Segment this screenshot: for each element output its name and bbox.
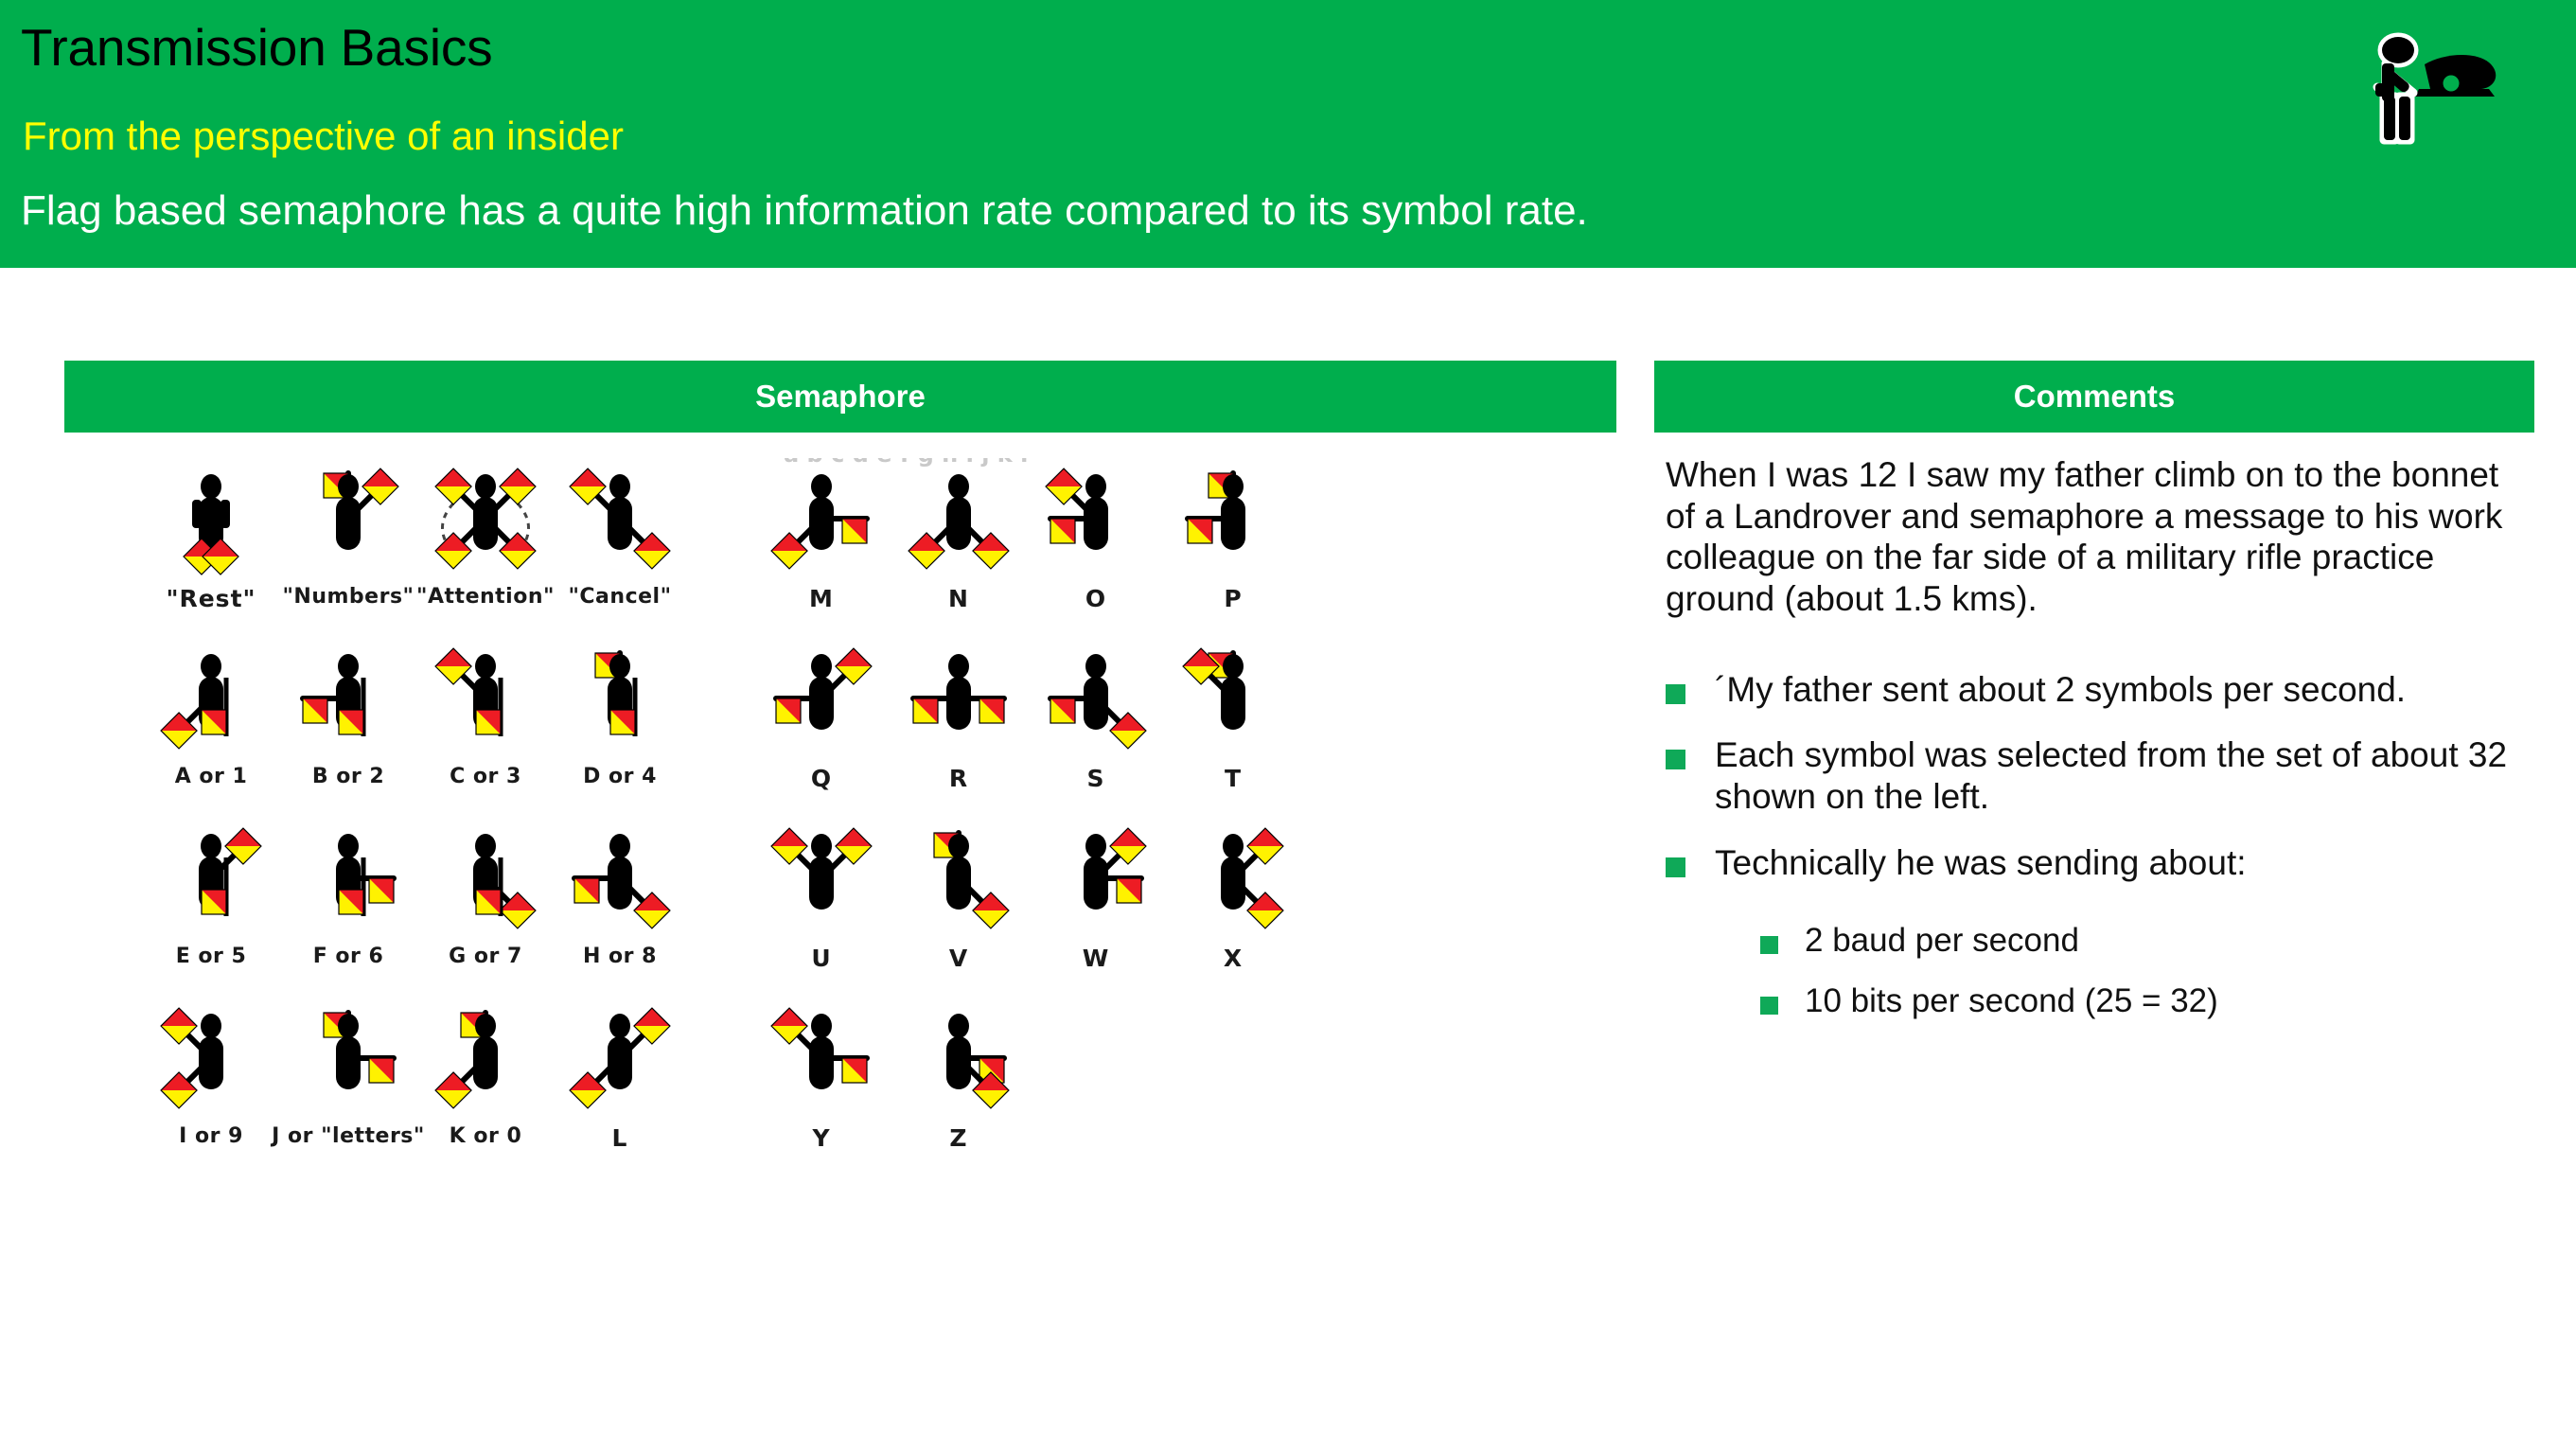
person-with-telephone-icon bbox=[2356, 17, 2527, 159]
bullet-item: ´My father sent about 2 symbols per seco… bbox=[1666, 669, 2536, 711]
column-header-semaphore: Semaphore bbox=[64, 361, 1616, 433]
bullet-text: ´My father sent about 2 symbols per seco… bbox=[1715, 669, 2406, 711]
bullet-text: Each symbol was selected from the set of… bbox=[1715, 734, 2536, 817]
semaphore-cell-label: H or 8 bbox=[525, 945, 715, 968]
bullet-text: 10 bits per second (25 = 32) bbox=[1805, 981, 2218, 1020]
semaphore-cell: H or 8 bbox=[525, 804, 715, 984]
semaphore-grid: "Rest""Numbers""Attention""Cancel"MNOPA … bbox=[64, 445, 1616, 1193]
column-header-semaphore-label: Semaphore bbox=[755, 379, 926, 415]
slide-canvas: Transmission Basics From the perspective… bbox=[0, 0, 2576, 1449]
bullet-square-icon bbox=[1666, 750, 1685, 769]
bullet-square-icon bbox=[1666, 684, 1685, 704]
column-header-comments: Comments bbox=[1654, 361, 2534, 433]
semaphore-figure bbox=[525, 625, 715, 767]
bullet-item: Technically he was sending about: bbox=[1666, 842, 2536, 884]
semaphore-cell-label: X bbox=[1138, 945, 1328, 972]
semaphore-figure bbox=[525, 804, 715, 946]
semaphore-cell bbox=[1138, 984, 1328, 1164]
semaphore-cell: X bbox=[1138, 804, 1328, 984]
semaphore-figure bbox=[1138, 804, 1328, 946]
bullet-item: 2 baud per second bbox=[1760, 921, 2536, 960]
bullet-text: Technically he was sending about: bbox=[1715, 842, 2247, 884]
semaphore-figure bbox=[1138, 984, 1328, 1126]
semaphore-cell-label: D or 4 bbox=[525, 765, 715, 788]
page-subtitle: From the perspective of an insider bbox=[23, 114, 624, 159]
semaphore-figure bbox=[1138, 625, 1328, 767]
column-header-comments-label: Comments bbox=[2014, 379, 2176, 415]
slide-header: Transmission Basics From the perspective… bbox=[0, 0, 2576, 268]
semaphore-cell-label: L bbox=[525, 1124, 715, 1152]
semaphore-chart: a b c d e f g h i j k l "Rest""Numbers""… bbox=[64, 445, 1616, 1202]
bullet-item: Each symbol was selected from the set of… bbox=[1666, 734, 2536, 817]
semaphore-cell-label: T bbox=[1138, 765, 1328, 792]
semaphore-figure bbox=[1138, 445, 1328, 587]
semaphore-figure bbox=[525, 445, 715, 587]
semaphore-cell-label: "Cancel" bbox=[525, 585, 715, 609]
semaphore-cell: "Cancel" bbox=[525, 445, 715, 625]
semaphore-cell: T bbox=[1138, 625, 1328, 804]
bullet-square-icon bbox=[1760, 936, 1778, 954]
semaphore-cell: P bbox=[1138, 445, 1328, 625]
page-title: Transmission Basics bbox=[21, 17, 492, 78]
comments-panel: When I was 12 I saw my father climb on t… bbox=[1666, 454, 2536, 1098]
bullet-text: 2 baud per second bbox=[1805, 921, 2079, 960]
page-lead-text: Flag based semaphore has a quite high in… bbox=[21, 187, 1588, 235]
semaphore-cell-label: P bbox=[1138, 585, 1328, 612]
bullet-item: 10 bits per second (25 = 32) bbox=[1760, 981, 2536, 1020]
bullet-square-icon bbox=[1760, 997, 1778, 1015]
bullet-square-icon bbox=[1666, 857, 1685, 877]
semaphore-cell: L bbox=[525, 984, 715, 1164]
comments-paragraph: When I was 12 I saw my father climb on t… bbox=[1666, 454, 2536, 620]
comments-bullet-list: ´My father sent about 2 symbols per seco… bbox=[1666, 669, 2536, 1020]
semaphore-figure bbox=[525, 984, 715, 1126]
semaphore-cell: D or 4 bbox=[525, 625, 715, 804]
